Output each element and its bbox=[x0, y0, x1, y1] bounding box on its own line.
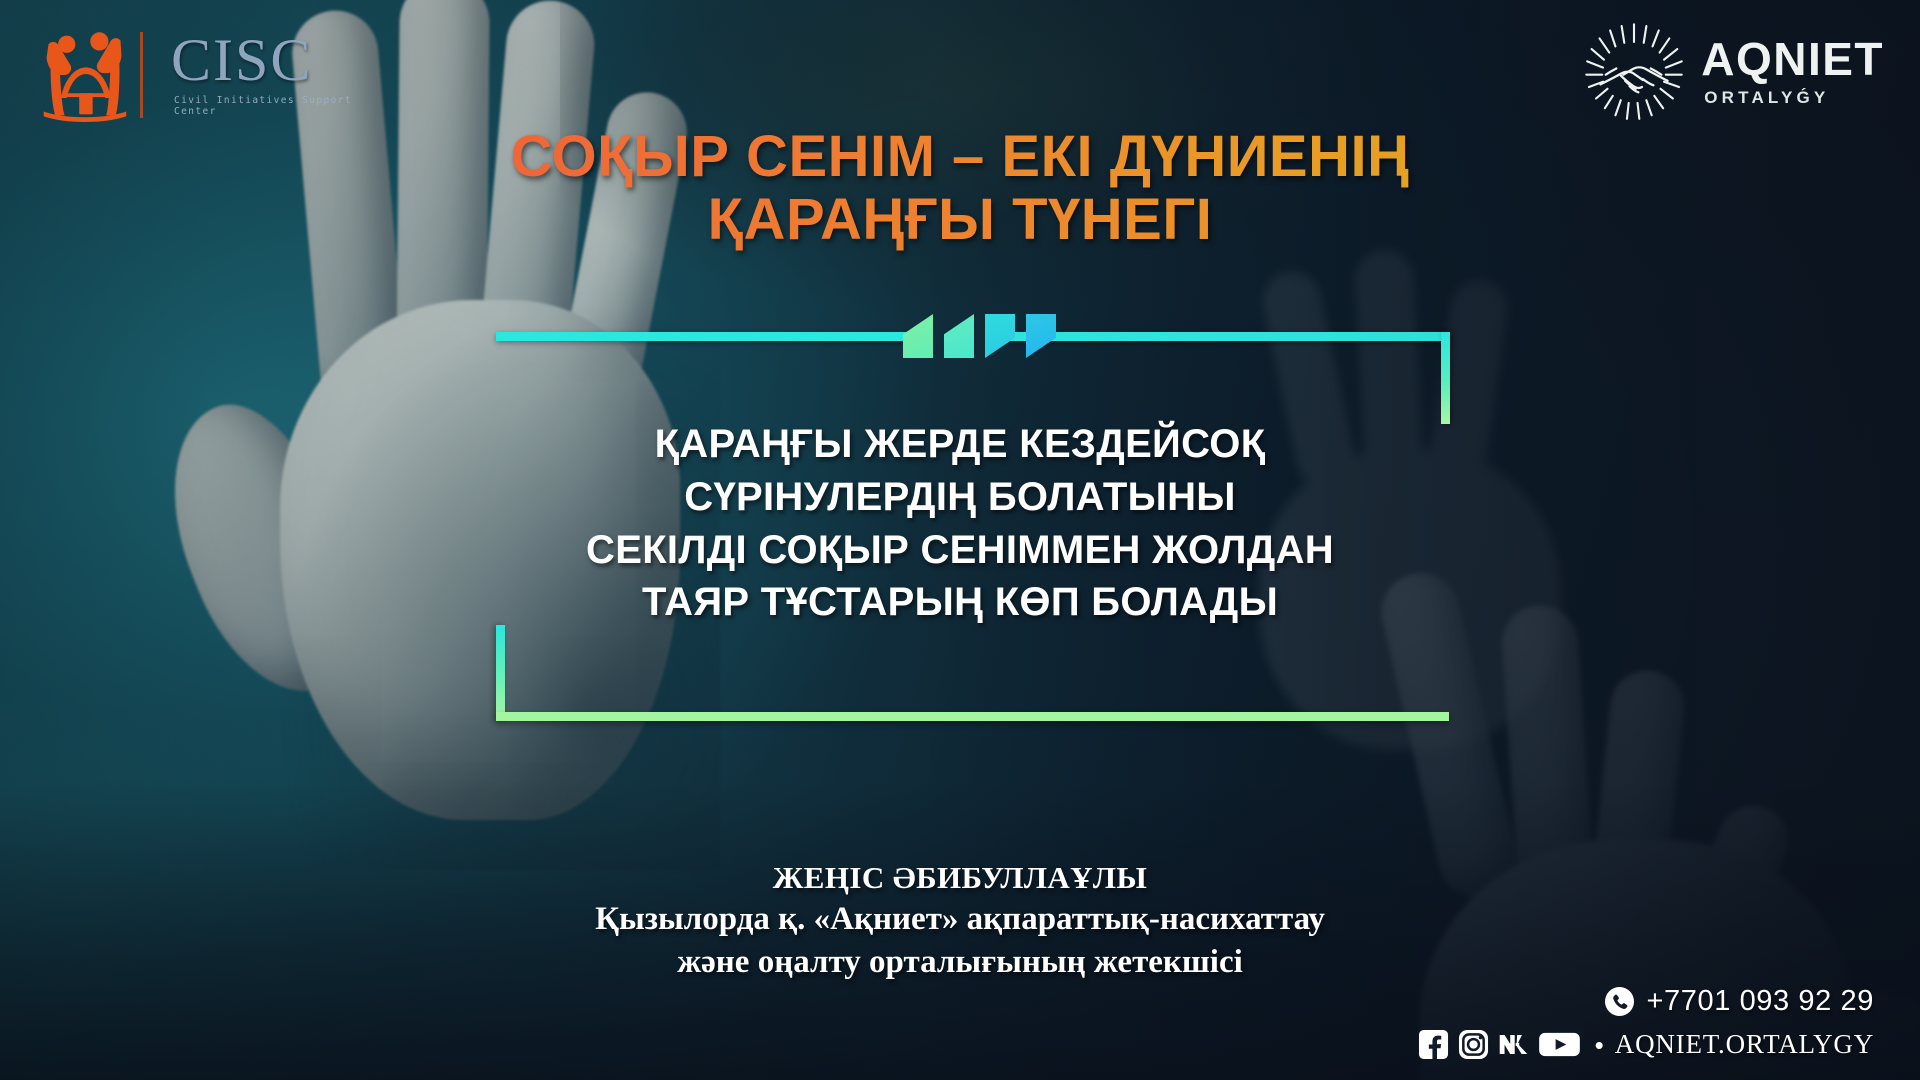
quote-glyph-2 bbox=[944, 314, 974, 358]
cisc-tagline: Civil Initiatives Support Center bbox=[174, 95, 356, 117]
title-line-2: ҚАРАҢҒЫ ТҮНЕГІ bbox=[0, 189, 1920, 252]
youtube-icon[interactable] bbox=[1538, 1029, 1581, 1060]
handshake-rays-icon bbox=[1581, 19, 1687, 125]
phone-number[interactable]: +7701 093 92 29 bbox=[1646, 985, 1874, 1018]
quote-line-4: ТАЯР ТҰСТАРЫҢ КӨП БОЛАДЫ bbox=[0, 576, 1920, 629]
social-handle[interactable]: AQNIET.ORTALYGY bbox=[1615, 1029, 1874, 1060]
poster-canvas: CISC Civil Initiatives Support Center bbox=[0, 0, 1920, 1080]
phone-row: +7701 093 92 29 bbox=[1418, 985, 1874, 1018]
cisc-logo: CISC Civil Initiatives Support Center bbox=[36, 22, 356, 128]
vk-icon[interactable] bbox=[1498, 1029, 1529, 1060]
social-row: • AQNIET.ORTALYGY bbox=[1418, 1029, 1874, 1060]
cisc-divider bbox=[140, 32, 143, 118]
quote-line-2: СҮРІНУЛЕРДІҢ БОЛАТЫНЫ bbox=[0, 471, 1920, 524]
attribution-role-line-2: және оңалту орталығының жетекшісі bbox=[0, 941, 1920, 984]
instagram-icon[interactable] bbox=[1458, 1029, 1489, 1060]
quote-line-3: СЕКІЛДІ СОҚЫР СЕНІММЕН ЖОЛДАН bbox=[0, 524, 1920, 577]
quote-body: ҚАРАҢҒЫ ЖЕРДЕ КЕЗДЕЙСОҚ СҮРІНУЛЕРДІҢ БОЛ… bbox=[0, 418, 1920, 629]
phone-icon bbox=[1604, 986, 1635, 1017]
attribution-role-line-1: Қызылорда қ. «Ақниет» ақпараттық-насихат… bbox=[0, 898, 1920, 941]
social-separator: • bbox=[1595, 1032, 1604, 1058]
facebook-icon[interactable] bbox=[1418, 1029, 1449, 1060]
contact-block: +7701 093 92 29 bbox=[1418, 985, 1874, 1060]
quote-glyph-3 bbox=[985, 314, 1015, 358]
cisc-two-people-house-icon bbox=[36, 25, 132, 125]
aqniet-wordmark: AQNIET ORTALYǴY bbox=[1701, 36, 1884, 108]
attribution-block: ЖЕҢІС ӘБИБУЛЛАҰЛЫ Қызылорда қ. «Ақниет» … bbox=[0, 858, 1920, 984]
title-line-1: СОҚЫР СЕНІМ – ЕКІ ДҮНИЕНІҢ bbox=[0, 126, 1920, 189]
attribution-name: ЖЕҢІС ӘБИБУЛЛАҰЛЫ bbox=[0, 858, 1920, 898]
aqniet-name: AQNIET bbox=[1701, 36, 1884, 82]
quote-glyph-4 bbox=[1026, 314, 1056, 358]
quote-glyph-1 bbox=[903, 314, 933, 358]
aqniet-sub: ORTALYǴY bbox=[1704, 88, 1829, 108]
poster-title: СОҚЫР СЕНІМ – ЕКІ ДҮНИЕНІҢ ҚАРАҢҒЫ ТҮНЕГ… bbox=[0, 126, 1920, 251]
aqniet-logo: AQNIET ORTALYǴY bbox=[1581, 18, 1884, 126]
quotation-marks-icon bbox=[903, 314, 1056, 358]
cisc-name: CISC bbox=[171, 33, 356, 88]
cisc-wordmark: CISC Civil Initiatives Support Center bbox=[171, 33, 356, 117]
quote-line-1: ҚАРАҢҒЫ ЖЕРДЕ КЕЗДЕЙСОҚ bbox=[0, 418, 1920, 471]
